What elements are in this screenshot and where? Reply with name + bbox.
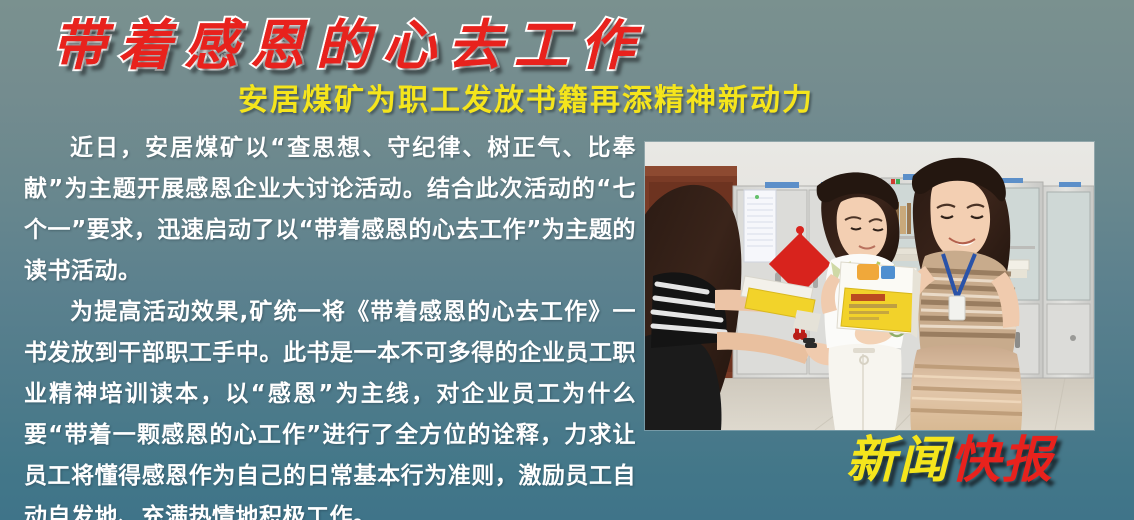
news-stamp-yellow: 新闻	[846, 431, 950, 489]
news-stamp-red: 快报	[950, 431, 1054, 489]
yellow-book-center	[837, 262, 921, 338]
news-photo	[645, 142, 1094, 430]
news-poster: 带着感恩的心去工作 带着感恩的心去工作 安居煤矿为职工发放书籍再添精神新动力 近…	[0, 0, 1134, 520]
article-paragraph-1: 近日，安居煤矿以“查思想、守纪律、树正气、比奉献”为主题开展感恩企业大讨论活动。…	[24, 128, 636, 292]
article-body: 近日，安居煤矿以“查思想、守纪律、树正气、比奉献”为主题开展感恩企业大讨论活动。…	[24, 128, 636, 520]
news-photo-illustration	[645, 142, 1094, 430]
article-paragraph-2: 为提高活动效果,矿统一将《带着感恩的心去工作》一书发放到干部职工手中。此书是一本…	[24, 292, 636, 520]
page-title: 带着感恩的心去工作 带着感恩的心去工作	[52, 14, 646, 76]
news-stamp: 新闻快报	[846, 432, 1054, 488]
page-title-fill: 带着感恩的心去工作	[52, 14, 646, 76]
page-subtitle: 安居煤矿为职工发放书籍再添精神新动力	[238, 82, 814, 120]
